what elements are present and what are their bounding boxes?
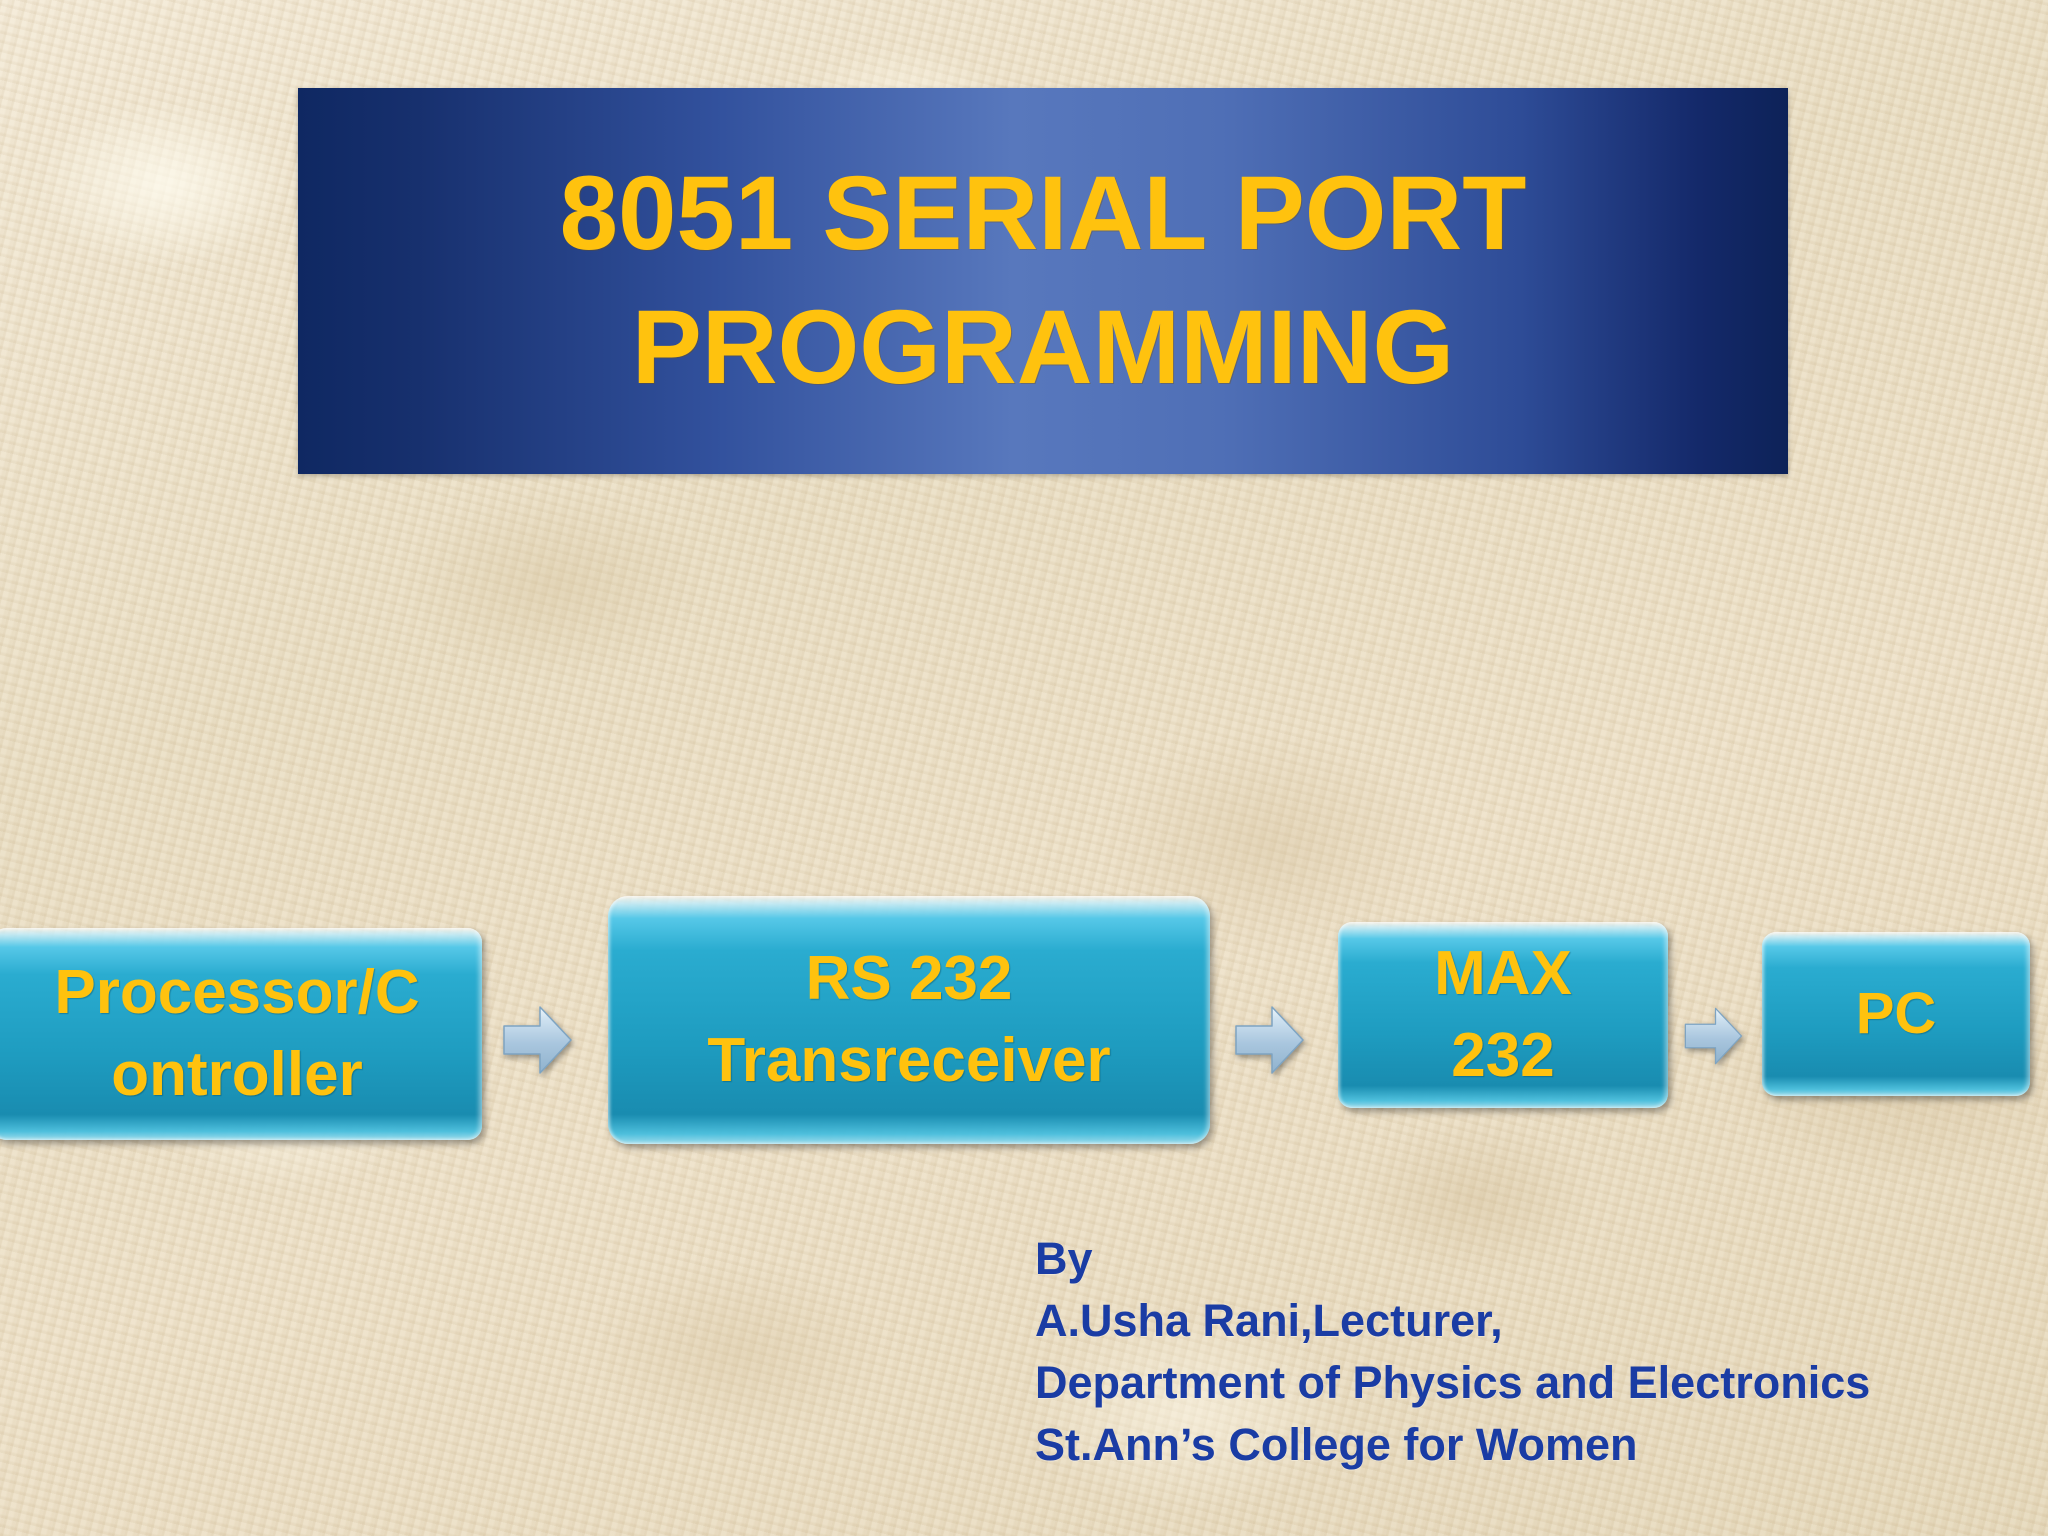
author-block: By A.Usha Rani,Lecturer, Department of P… [1035, 1228, 1870, 1476]
flow-box-max232-label-2: 232 [1451, 1015, 1554, 1097]
flow-box-processor-label-2: ontroller [111, 1034, 362, 1116]
flow-box-rs232-label-2: Transreceiver [707, 1020, 1110, 1102]
flow-box-processor[interactable]: Processor/C ontroller [0, 928, 482, 1140]
flow-arrow-right-icon-2 [1232, 1000, 1306, 1080]
flow-box-processor-label-1: Processor/C [54, 952, 419, 1034]
author-line-name: A.Usha Rani,Lecturer, [1035, 1290, 1870, 1352]
title-banner: 8051 SERIAL PORT PROGRAMMING [298, 88, 1788, 474]
flow-box-max232-label-1: MAX [1434, 933, 1572, 1015]
flow-box-max232[interactable]: MAX 232 [1338, 922, 1668, 1108]
flow-arrow-right-icon-1 [500, 1000, 574, 1080]
title-line-1: 8051 SERIAL PORT [560, 147, 1527, 281]
flow-box-rs232-label-1: RS 232 [806, 938, 1013, 1020]
title-line-2: PROGRAMMING [632, 281, 1454, 415]
author-line-college: St.Ann’s College for Women [1035, 1414, 1870, 1476]
slide-canvas: 8051 SERIAL PORT PROGRAMMING Processor/C… [0, 0, 2048, 1536]
flow-arrow-right-icon-3 [1682, 1002, 1744, 1070]
author-line-by: By [1035, 1228, 1870, 1290]
flow-box-pc[interactable]: PC [1762, 932, 2030, 1096]
flow-box-pc-label-1: PC [1856, 976, 1937, 1053]
author-line-department: Department of Physics and Electronics [1035, 1352, 1870, 1414]
flow-box-rs232[interactable]: RS 232 Transreceiver [608, 896, 1210, 1144]
